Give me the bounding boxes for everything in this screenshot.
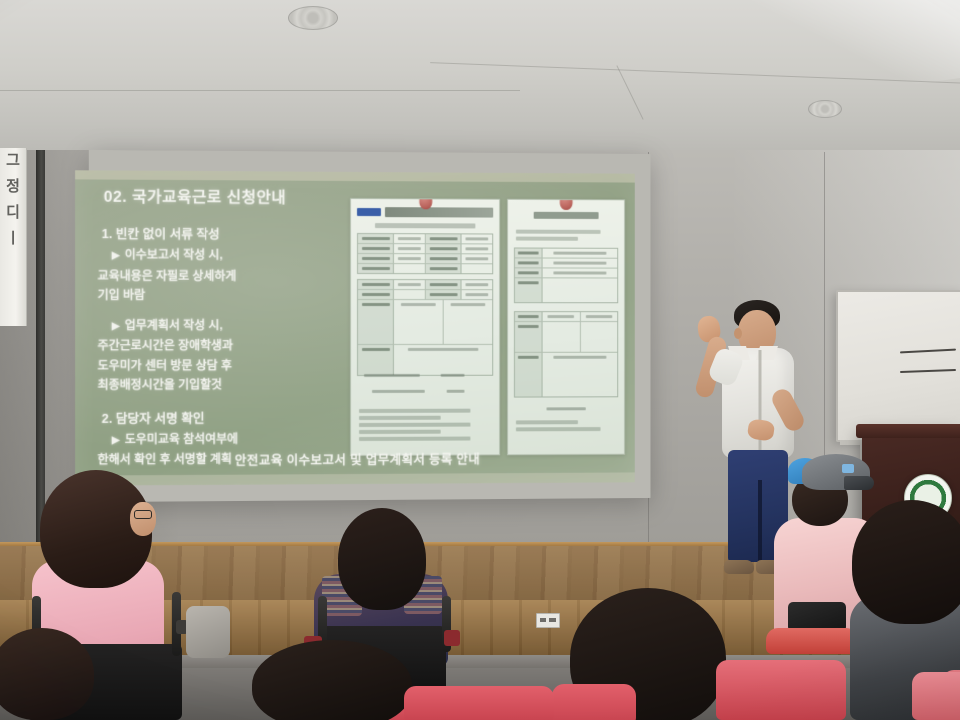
triangle-marker-icon: ▶	[112, 250, 120, 261]
slide-document-images	[350, 198, 625, 456]
table-row	[515, 248, 617, 258]
bullet-2-sub-1-rest: 참석여부에	[183, 431, 238, 445]
table-row	[515, 258, 617, 268]
table-row	[358, 244, 492, 254]
table-row	[515, 312, 617, 322]
document-title-bar	[385, 207, 493, 217]
table-row	[358, 300, 492, 345]
bullet-2-heading: 2. 담당자 서명 확인	[102, 406, 360, 426]
auditorium-seat	[552, 684, 636, 720]
slide-title: 02. 국가교육근로 신청안내	[104, 185, 286, 208]
document-work-plan	[507, 199, 625, 456]
document-title-bar	[534, 212, 599, 219]
bullet-2-sub-1-lead: 도우미교육	[125, 431, 180, 445]
banner-char-3: 디	[0, 200, 26, 226]
bullet-2-sub-1: ▶도우미교육 참석여부에	[98, 430, 360, 448]
bullet-1-sub-2-rest: 작성 시,	[183, 317, 223, 331]
presentation-slide: 02. 국가교육근로 신청안내 1. 빈칸 없이 서류 작성 ▶이수보고서 작성…	[75, 170, 635, 485]
pushpin-icon	[560, 199, 573, 210]
table-row	[358, 290, 492, 300]
whiteboard-marker-line	[900, 369, 956, 373]
audience-bag	[186, 606, 230, 658]
cap-logo-icon	[842, 464, 854, 473]
spacer	[98, 307, 360, 317]
ceiling	[0, 0, 960, 172]
document-subtitle-bar	[375, 223, 476, 228]
table-row	[515, 322, 617, 353]
slide-caption: 안전교육 이수보고서 및 업무계획서 등록 안내	[75, 448, 635, 470]
ceiling-round-vent	[808, 100, 842, 118]
bullet-1-line-2: 기입 바람	[98, 288, 360, 304]
document-footnotes	[359, 409, 491, 444]
presenter-shoe	[724, 560, 754, 574]
audience-face	[130, 502, 156, 536]
cap-brim	[844, 476, 874, 490]
audience-hair	[852, 500, 960, 624]
bullet-1-sub-2: ▶업무계획서 작성 시,	[98, 317, 360, 334]
bullet-1-sub-1-lead: 이수보고서	[125, 247, 180, 261]
banner-char-2: 정	[0, 174, 26, 200]
table-row	[515, 268, 617, 278]
document-table-top	[357, 233, 493, 274]
bullet-1-heading: 1. 빈칸 없이 서류 작성	[102, 223, 360, 243]
ceiling-round-vent	[288, 6, 338, 30]
document-signature-row	[359, 387, 491, 396]
document-table	[514, 247, 618, 303]
table-row	[358, 234, 492, 244]
document-signature-row	[359, 371, 491, 380]
bullet-1-line-3: 주간근로시간은 장애학생과	[98, 338, 360, 354]
audience-hair-foreground	[0, 628, 94, 720]
table-row	[358, 264, 492, 273]
document-signature-row	[516, 404, 616, 413]
podium-top	[856, 424, 960, 438]
presenter-ear	[734, 328, 742, 339]
document-table-schedule	[514, 311, 618, 397]
presenter-shirt-placket	[759, 350, 762, 458]
table-row	[515, 278, 617, 302]
auditorium-seat	[912, 672, 960, 720]
wheelchair-reflector	[444, 630, 460, 646]
whiteboard-marker-line	[900, 349, 956, 354]
audience-member-front-center	[556, 588, 736, 720]
slide-bullet-list: 1. 빈칸 없이 서류 작성 ▶이수보고서 작성 시, 교육내용은 자필로 상세…	[98, 223, 360, 486]
banner-char-1: 그	[0, 148, 26, 174]
auditorium-seat	[716, 660, 846, 720]
document-table-mid	[357, 279, 493, 376]
document-badge	[357, 208, 381, 216]
table-row	[515, 353, 617, 397]
audience-member-wheelchair-left	[0, 468, 230, 720]
document-intro-text	[516, 230, 616, 244]
bullet-1-sub-2-lead: 업무계획서	[125, 317, 180, 331]
auditorium-scene: 그 정 디 ㅣ 02. 국가교육근로 신청안내 1. 빈칸 없이 서류 작성 ▶…	[0, 0, 960, 720]
bullet-1-line-1: 교육내용은 자필로 상세하게	[98, 268, 360, 284]
presenter-leg-split	[758, 480, 762, 564]
banner-char-4: ㅣ	[0, 226, 26, 252]
document-footnotes	[516, 420, 616, 434]
audience-hair	[338, 508, 426, 610]
audience-member-front-left	[252, 640, 412, 720]
whiteboard	[836, 290, 960, 442]
left-partial-banner: 그 정 디 ㅣ	[0, 148, 27, 326]
auditorium-seat	[766, 628, 858, 654]
bullet-1-line-5: 최종배정시간을 기입할것	[98, 377, 360, 393]
audience-hair	[252, 640, 412, 720]
table-row	[358, 280, 492, 290]
bullet-1-sub-1-rest: 작성 시,	[183, 247, 223, 261]
document-completion-report	[350, 198, 500, 456]
triangle-marker-icon: ▶	[112, 434, 120, 445]
auditorium-seat	[404, 686, 554, 720]
bullet-1-sub-1: ▶이수보고서 작성 시,	[98, 247, 360, 264]
glasses-icon	[134, 510, 152, 519]
ceiling-seam	[0, 90, 520, 91]
triangle-marker-icon: ▶	[112, 320, 120, 331]
bullet-1-line-4: 도우미가 센터 방문 상담 후	[98, 357, 360, 373]
table-row	[358, 254, 492, 264]
